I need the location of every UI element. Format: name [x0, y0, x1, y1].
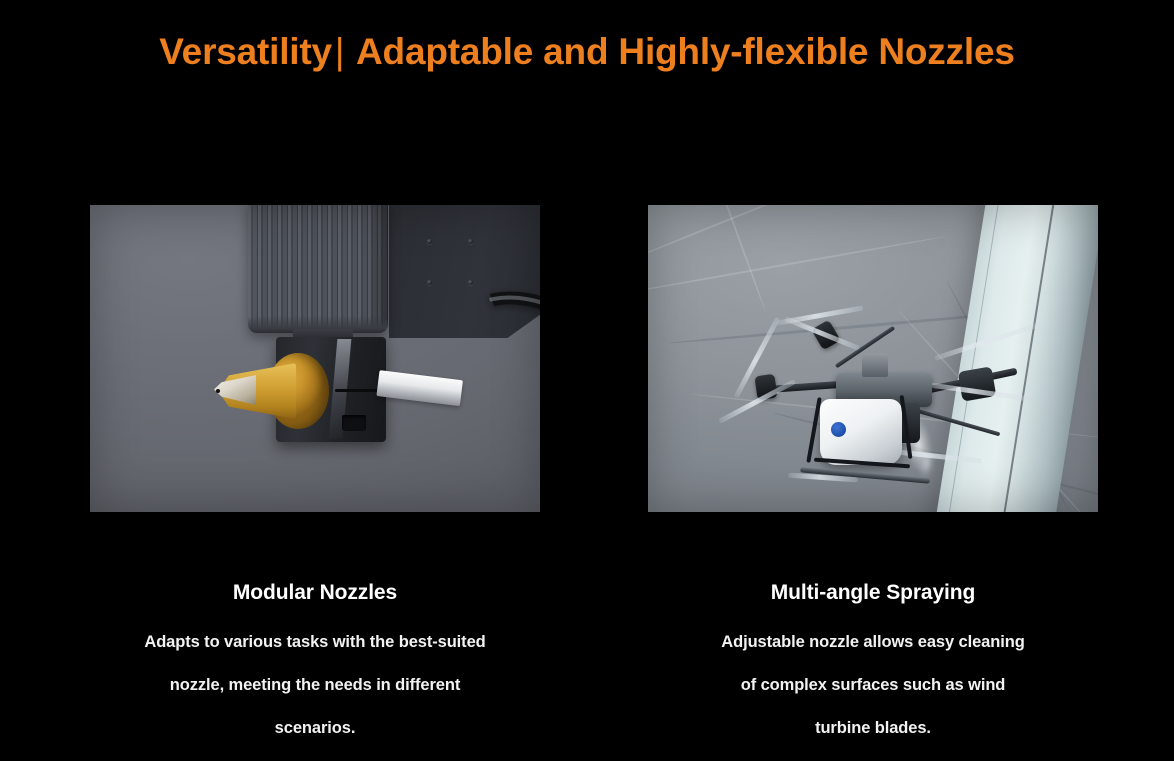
caption-block: Modular Nozzles Adapts to various tasks … [90, 580, 540, 750]
feature-card-grid: Modular Nozzles Adapts to various tasks … [0, 0, 1174, 761]
nozzle-closeup-image [90, 205, 540, 512]
panel-screw-icon [427, 280, 432, 285]
drone-spraying-image [648, 205, 1098, 512]
panel-screw-icon [468, 280, 473, 285]
card-heading: Modular Nozzles [90, 580, 540, 606]
card-body-line: of complex surfaces such as wind [648, 664, 1098, 707]
drone-motor-pod [958, 366, 997, 401]
ribbed-housing [248, 205, 388, 333]
brand-logo-badge [831, 422, 846, 437]
panel-screw-icon [468, 239, 473, 244]
panel-screw-icon [427, 239, 432, 244]
ground-track [648, 235, 946, 296]
ground-track [648, 205, 877, 273]
nozzle-photo-canvas [90, 205, 540, 512]
card-body-line: scenarios. [90, 707, 540, 750]
card-body: Adjustable nozzle allows easy cleaning o… [648, 621, 1098, 750]
silver-hex-tube [376, 370, 463, 406]
card-body-line: nozzle, meeting the needs in different [90, 664, 540, 707]
spraying-drone [758, 325, 1008, 475]
card-body-line: Adjustable nozzle allows easy cleaning [648, 621, 1098, 664]
drone-photo-canvas [648, 205, 1098, 512]
ground-track [710, 205, 767, 312]
card-body-line: Adapts to various tasks with the best-su… [90, 621, 540, 664]
card-body-line: turbine blades. [648, 707, 1098, 750]
card-body: Adapts to various tasks with the best-su… [90, 621, 540, 750]
drone-antenna-module [862, 353, 888, 377]
nozzle-orifice [216, 389, 220, 393]
clamp-notch [342, 415, 366, 431]
card-heading: Multi-angle Spraying [648, 580, 1098, 606]
caption-block: Multi-angle Spraying Adjustable nozzle a… [648, 580, 1098, 750]
